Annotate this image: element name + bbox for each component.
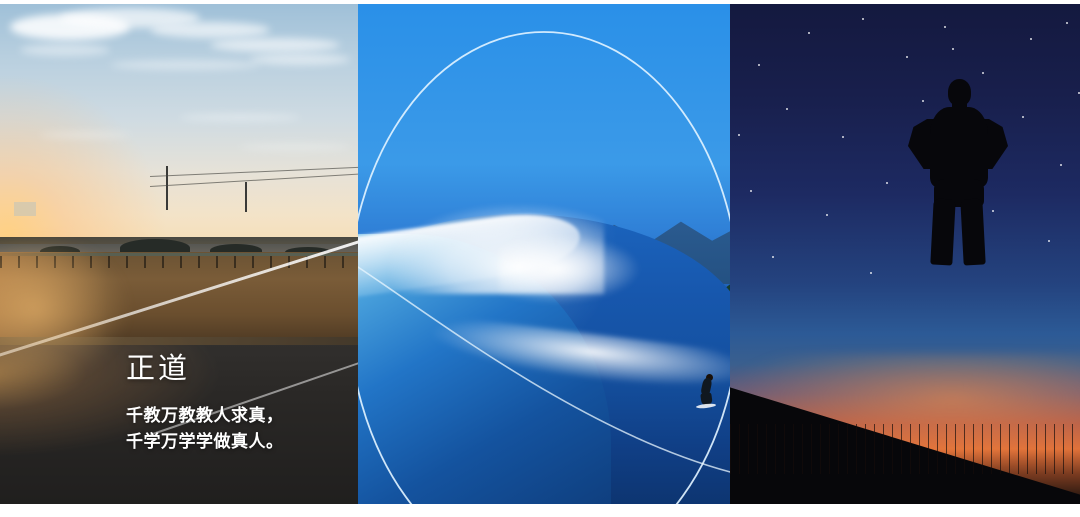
man-silhouette <box>904 79 1010 264</box>
surfer-figure <box>698 376 716 410</box>
panel-road: 正道 千教万教教人求真， 千学万学学做真人。 <box>0 4 358 504</box>
wave-spray <box>499 234 640 304</box>
star <box>862 18 864 20</box>
cloud <box>180 114 300 121</box>
cloud <box>210 38 340 52</box>
cloud <box>250 54 350 65</box>
star <box>870 272 872 274</box>
cloud <box>150 22 270 38</box>
star <box>944 26 946 28</box>
surfboard <box>696 403 716 409</box>
cloud <box>40 132 130 138</box>
power-pole <box>245 182 247 212</box>
cloud <box>20 44 110 56</box>
three-panel-poster: 正道 千教万教教人求真， 千学万学学做真人。 志向 长风破浪会有时， 直挂云帆济… <box>0 0 1080 517</box>
star <box>952 48 954 50</box>
star <box>842 136 844 138</box>
silhouette-right-leg <box>960 198 985 265</box>
road-sign <box>14 202 36 216</box>
panel-night: 视野 风声雨声读书声，声声入耳； 家事国事天下事，事事关心。 探索 俱怀逸兴壮思… <box>730 4 1080 504</box>
star <box>1030 38 1032 40</box>
star <box>786 108 788 110</box>
star <box>758 64 760 66</box>
star <box>1022 116 1024 118</box>
star <box>808 32 810 34</box>
star <box>738 134 740 136</box>
star <box>750 190 752 192</box>
panel-wave: 志向 长风破浪会有时， 直挂云帆济沧海。 领袖 一夫当关， 万夫莫开。 <box>358 4 730 504</box>
star <box>906 56 908 58</box>
heading-zhengdao: 正道 <box>126 354 190 383</box>
star <box>1066 22 1068 24</box>
star <box>772 256 774 258</box>
star <box>1060 164 1062 166</box>
dusk-sky <box>0 4 358 244</box>
star <box>982 72 984 74</box>
sun-glare <box>0 234 130 384</box>
silhouette-left-leg <box>930 198 955 265</box>
cloud <box>110 60 260 70</box>
quote-zhengdao: 千教万教教人求真， 千学万学学做真人。 <box>126 404 284 455</box>
cloud <box>240 144 350 150</box>
star <box>886 182 888 184</box>
star <box>826 214 828 216</box>
silhouette-torso <box>930 107 988 187</box>
power-pole <box>166 166 168 210</box>
star <box>1048 240 1050 242</box>
grass-silhouette <box>730 424 1080 474</box>
